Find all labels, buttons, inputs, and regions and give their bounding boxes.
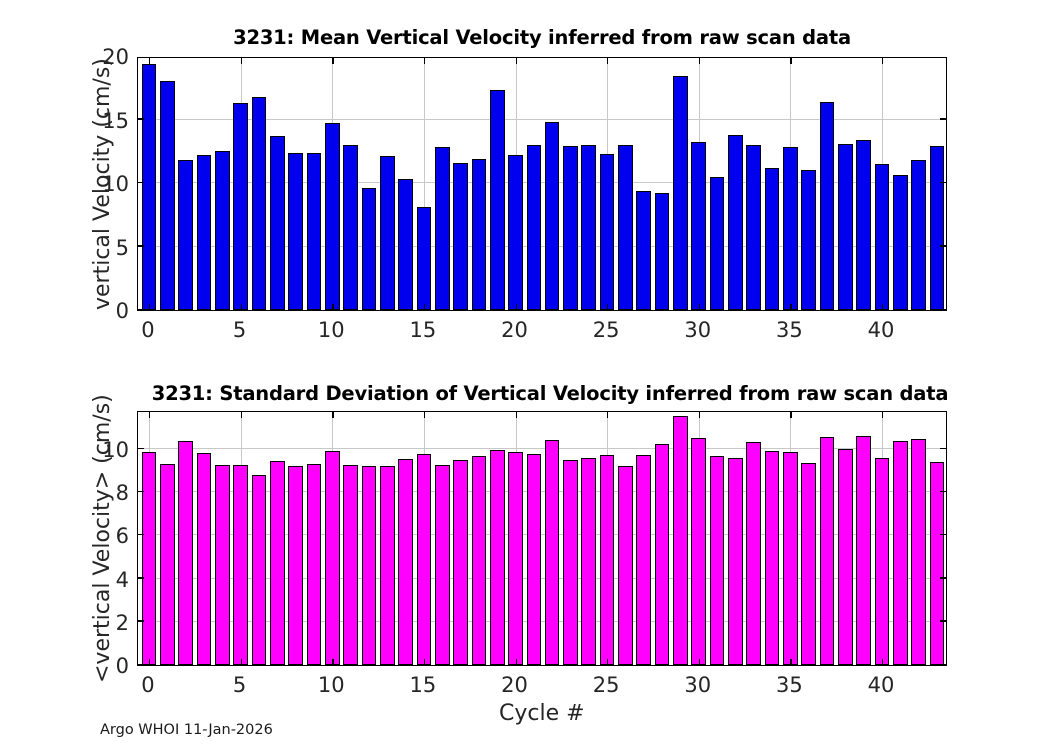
y-axis-tick bbox=[138, 309, 144, 310]
bar bbox=[545, 440, 560, 665]
bar bbox=[362, 188, 377, 310]
bar bbox=[783, 147, 798, 310]
bar bbox=[618, 145, 633, 310]
x-axis-tick bbox=[882, 659, 883, 665]
x-axis-tick bbox=[882, 304, 883, 310]
bar bbox=[563, 146, 578, 310]
x-axis-tick bbox=[149, 58, 150, 64]
y-axis-label-std-velocity: <vertical Velocity> (cm/s) bbox=[90, 394, 115, 683]
y-axis-tick bbox=[138, 182, 144, 183]
bar bbox=[288, 466, 303, 665]
bar bbox=[417, 454, 432, 665]
bar bbox=[765, 168, 780, 310]
plot-area-mean-velocity bbox=[137, 57, 947, 311]
y-axis-tick bbox=[940, 620, 946, 621]
footer-credit: Argo WHOI 11-Jan-2026 bbox=[100, 722, 273, 738]
x-axis-tick bbox=[882, 412, 883, 418]
bar bbox=[343, 465, 358, 665]
y-axis-tick bbox=[940, 577, 946, 578]
x-axis-tick bbox=[607, 659, 608, 665]
bar bbox=[233, 103, 248, 310]
x-axis-tick bbox=[516, 412, 517, 418]
bar bbox=[380, 466, 395, 665]
bar bbox=[673, 416, 688, 665]
x-tick-label: 25 bbox=[593, 318, 620, 342]
x-axis-tick bbox=[332, 412, 333, 418]
x-tick-label: 5 bbox=[233, 673, 246, 697]
bar bbox=[673, 76, 688, 310]
plot-area-std-velocity bbox=[137, 411, 947, 666]
x-axis-tick bbox=[149, 412, 150, 418]
x-axis-tick bbox=[516, 58, 517, 64]
bar bbox=[893, 175, 908, 310]
y-axis-tick bbox=[138, 491, 144, 492]
bar bbox=[911, 439, 926, 665]
bar bbox=[435, 147, 450, 310]
x-axis-tick bbox=[699, 58, 700, 64]
bar bbox=[710, 177, 725, 310]
x-tick-label: 25 bbox=[593, 673, 620, 697]
x-tick-label: 0 bbox=[141, 673, 154, 697]
x-axis-tick bbox=[607, 304, 608, 310]
bar bbox=[270, 461, 285, 665]
bar bbox=[453, 163, 468, 310]
bar bbox=[728, 458, 743, 665]
y-axis-tick bbox=[940, 664, 946, 665]
chart-title-std-velocity: 3231: Standard Deviation of Vertical Vel… bbox=[65, 382, 1035, 405]
y-axis-tick bbox=[940, 245, 946, 246]
bar bbox=[178, 441, 193, 665]
bar bbox=[801, 463, 816, 665]
x-axis-tick bbox=[332, 58, 333, 64]
x-axis-tick bbox=[149, 659, 150, 665]
bar bbox=[710, 456, 725, 665]
bar bbox=[160, 81, 175, 310]
bar bbox=[160, 464, 175, 665]
bar bbox=[417, 207, 432, 310]
figure-canvas: 3231: Mean Vertical Velocity inferred fr… bbox=[0, 0, 1050, 750]
bar bbox=[233, 465, 248, 665]
bar bbox=[893, 441, 908, 665]
y-axis-tick bbox=[138, 664, 144, 665]
y-axis-tick bbox=[940, 309, 946, 310]
x-tick-label: 40 bbox=[868, 318, 895, 342]
bar bbox=[746, 145, 761, 310]
bar bbox=[215, 465, 230, 665]
y-axis-tick bbox=[138, 245, 144, 246]
x-axis-tick bbox=[149, 304, 150, 310]
bar bbox=[820, 102, 835, 310]
bar bbox=[838, 449, 853, 665]
x-tick-label: 20 bbox=[501, 318, 528, 342]
x-axis-tick bbox=[241, 659, 242, 665]
bar bbox=[527, 454, 542, 665]
bar bbox=[581, 458, 596, 665]
bar bbox=[618, 466, 633, 665]
x-tick-label: 35 bbox=[776, 318, 803, 342]
x-axis-tick bbox=[516, 304, 517, 310]
x-axis-tick bbox=[607, 58, 608, 64]
x-tick-label: 30 bbox=[684, 318, 711, 342]
bar bbox=[783, 452, 798, 665]
y-axis-tick bbox=[940, 182, 946, 183]
bar bbox=[215, 151, 230, 310]
bar bbox=[142, 452, 157, 665]
x-axis-tick bbox=[424, 58, 425, 64]
bar bbox=[472, 456, 487, 665]
y-axis-tick bbox=[940, 491, 946, 492]
bar bbox=[655, 444, 670, 666]
y-axis-tick bbox=[940, 534, 946, 535]
bar bbox=[820, 437, 835, 665]
y-axis-tick bbox=[940, 448, 946, 449]
x-axis-tick bbox=[882, 58, 883, 64]
bar bbox=[856, 436, 871, 665]
bar bbox=[801, 170, 816, 310]
bar bbox=[728, 135, 743, 310]
bar bbox=[490, 450, 505, 665]
bar bbox=[197, 453, 212, 665]
bar bbox=[435, 465, 450, 665]
bar bbox=[636, 191, 651, 310]
x-axis-tick bbox=[424, 412, 425, 418]
bar bbox=[930, 146, 945, 310]
bar-series-mean-velocity bbox=[138, 58, 946, 310]
bar bbox=[875, 164, 890, 310]
bar bbox=[142, 64, 157, 310]
bar bbox=[508, 452, 523, 665]
x-axis-tick bbox=[241, 412, 242, 418]
bar bbox=[307, 464, 322, 665]
bar bbox=[765, 451, 780, 665]
bar bbox=[508, 155, 523, 310]
bar bbox=[178, 160, 193, 310]
y-axis-label-mean-velocity: vertical Velocity (cm/s) bbox=[90, 58, 115, 310]
chart-title-mean-velocity: 3231: Mean Vertical Velocity inferred fr… bbox=[137, 26, 947, 49]
y-axis-tick bbox=[138, 620, 144, 621]
bar bbox=[545, 122, 560, 310]
bar bbox=[472, 159, 487, 310]
bar bbox=[691, 438, 706, 665]
bar bbox=[600, 154, 615, 310]
x-axis-tick bbox=[332, 304, 333, 310]
x-axis-tick bbox=[424, 659, 425, 665]
bar bbox=[197, 155, 212, 310]
bar bbox=[325, 451, 340, 665]
bar bbox=[252, 97, 267, 310]
bar bbox=[600, 455, 615, 665]
bar bbox=[490, 90, 505, 310]
bar bbox=[838, 144, 853, 310]
bar bbox=[307, 153, 322, 310]
bar-series-std-velocity bbox=[138, 412, 946, 665]
x-axis-tick bbox=[790, 58, 791, 64]
bar bbox=[911, 160, 926, 310]
bar bbox=[325, 123, 340, 310]
bar bbox=[343, 145, 358, 310]
bar bbox=[930, 462, 945, 665]
x-axis-tick bbox=[607, 412, 608, 418]
bar bbox=[398, 459, 413, 665]
x-tick-label: 20 bbox=[501, 673, 528, 697]
bar bbox=[875, 458, 890, 665]
bar bbox=[655, 193, 670, 310]
bar bbox=[362, 466, 377, 665]
bar bbox=[270, 136, 285, 310]
x-axis-label-cycle: Cycle # bbox=[499, 701, 585, 726]
bar bbox=[527, 145, 542, 310]
bar bbox=[288, 153, 303, 310]
x-tick-label: 10 bbox=[318, 673, 345, 697]
x-tick-label: 35 bbox=[776, 673, 803, 697]
x-tick-label: 15 bbox=[410, 318, 437, 342]
bar bbox=[252, 475, 267, 665]
x-tick-label: 40 bbox=[868, 673, 895, 697]
bar bbox=[746, 442, 761, 665]
bar bbox=[380, 156, 395, 310]
x-axis-tick bbox=[516, 659, 517, 665]
x-tick-label: 30 bbox=[684, 673, 711, 697]
y-axis-tick bbox=[138, 448, 144, 449]
bar bbox=[581, 145, 596, 310]
y-axis-tick bbox=[940, 118, 946, 119]
bar bbox=[453, 460, 468, 665]
x-tick-label: 15 bbox=[410, 673, 437, 697]
x-axis-tick bbox=[699, 304, 700, 310]
x-axis-tick bbox=[790, 412, 791, 418]
x-axis-tick bbox=[699, 412, 700, 418]
x-axis-tick bbox=[790, 659, 791, 665]
bar bbox=[563, 460, 578, 665]
bar bbox=[691, 142, 706, 310]
x-tick-label: 10 bbox=[318, 318, 345, 342]
x-tick-label: 0 bbox=[141, 318, 154, 342]
x-axis-tick bbox=[424, 304, 425, 310]
x-axis-tick bbox=[699, 659, 700, 665]
x-axis-tick bbox=[790, 304, 791, 310]
y-axis-tick bbox=[138, 534, 144, 535]
bar bbox=[636, 455, 651, 665]
x-axis-tick bbox=[241, 58, 242, 64]
bar bbox=[856, 140, 871, 310]
x-tick-label: 5 bbox=[233, 318, 246, 342]
y-axis-tick bbox=[138, 577, 144, 578]
bar bbox=[398, 179, 413, 310]
y-axis-tick bbox=[138, 118, 144, 119]
x-axis-tick bbox=[241, 304, 242, 310]
x-axis-tick bbox=[332, 659, 333, 665]
